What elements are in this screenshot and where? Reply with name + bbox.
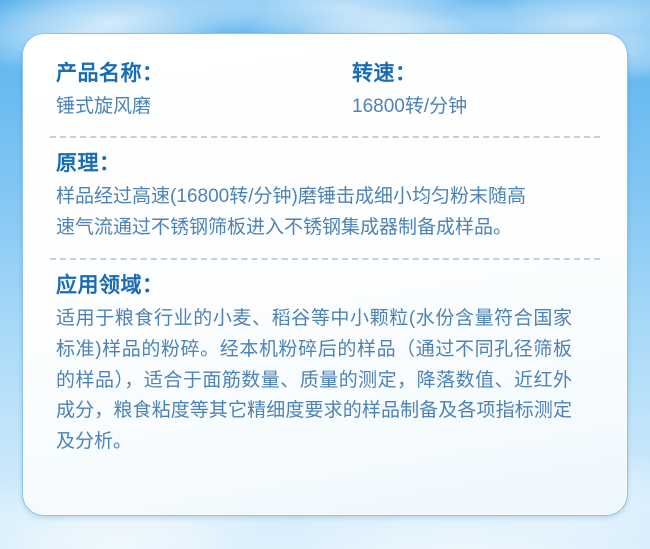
divider-line-2 (50, 258, 600, 260)
product-name-label: 产品名称： (56, 60, 352, 88)
principle-text: 样品经过高速(16800转/分钟)磨锤击成细小均匀粉末随高速气流通过不锈钢筛板进… (56, 182, 526, 244)
principle-section: 原理： 样品经过高速(16800转/分钟)磨锤击成细小均匀粉末随高速气流通过不锈… (48, 150, 602, 244)
principle-label: 原理： (56, 150, 594, 178)
product-spec-card: 产品名称： 锤式旋风磨 转速： 16800转/分钟 原理： 样品经过高速(168… (22, 33, 628, 516)
rotation-speed-label: 转速： (352, 60, 594, 88)
application-label: 应用领域： (56, 272, 594, 300)
product-name-value: 锤式旋风磨 (56, 93, 352, 122)
spec-top-row: 产品名称： 锤式旋风磨 转速： 16800转/分钟 (48, 60, 602, 122)
product-name-block: 产品名称： 锤式旋风磨 (56, 60, 352, 122)
rotation-speed-value: 16800转/分钟 (352, 93, 594, 122)
application-text: 适用于粮食行业的小麦、稻谷等中小颗粒(水份含量符合国家标准)样品的粉碎。经本机粉… (56, 304, 572, 458)
rotation-speed-block: 转速： 16800转/分钟 (352, 60, 594, 122)
application-section: 应用领域： 适用于粮食行业的小麦、稻谷等中小颗粒(水份含量符合国家标准)样品的粉… (48, 272, 602, 458)
divider-line-1 (50, 136, 600, 138)
